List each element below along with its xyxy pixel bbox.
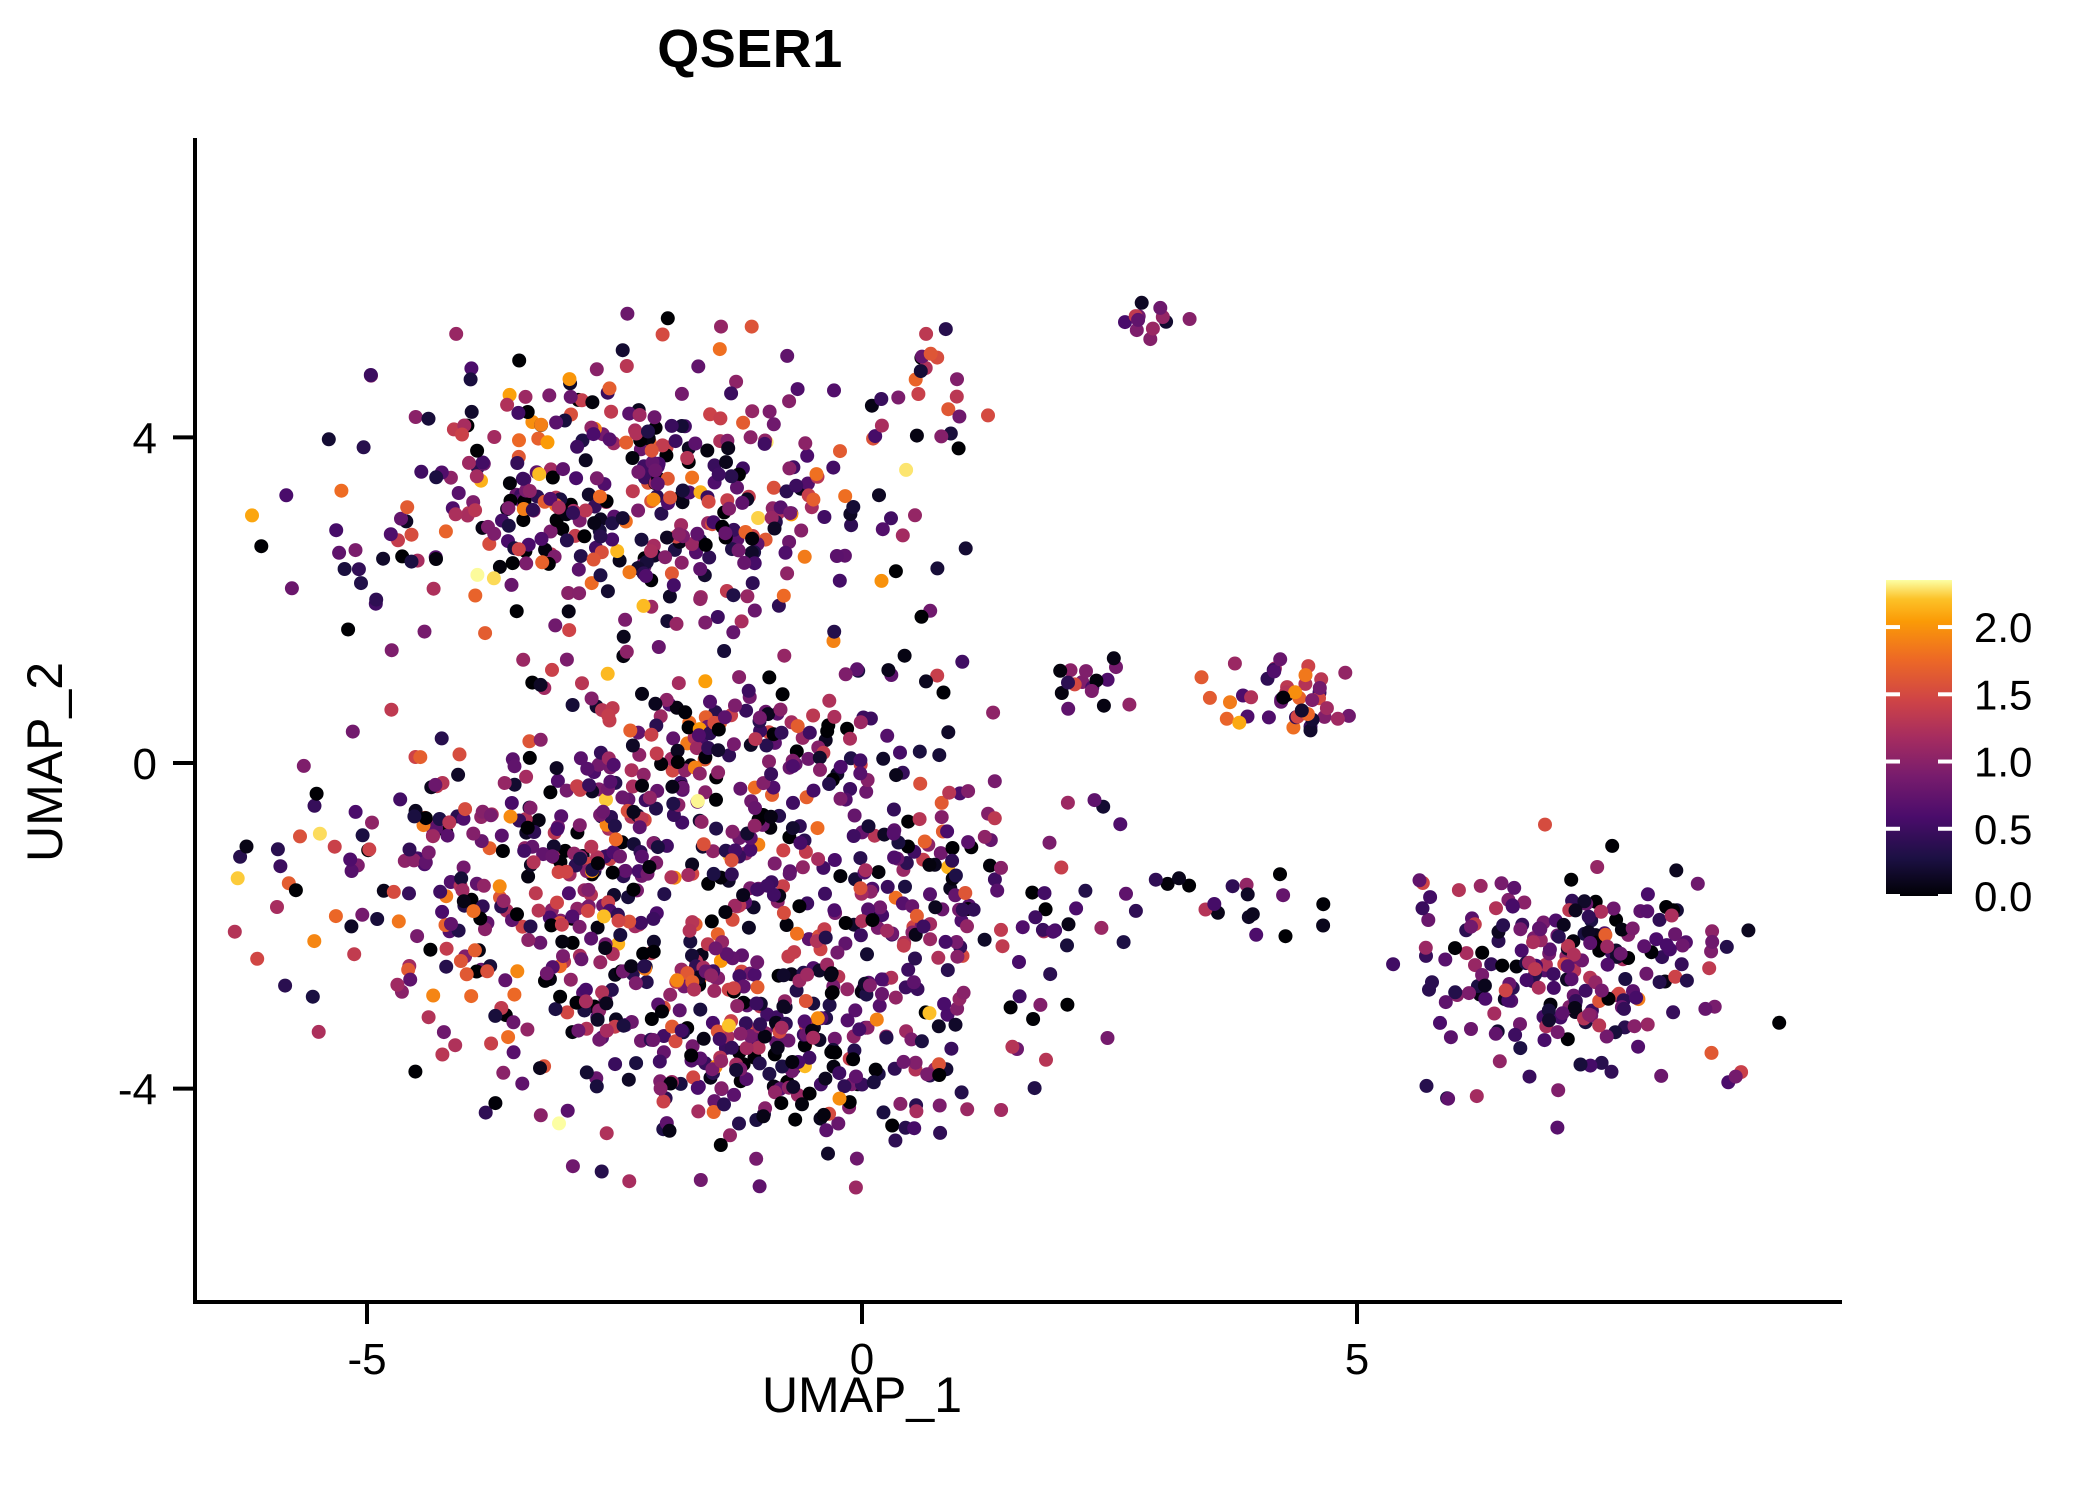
scatter-point xyxy=(718,710,732,724)
scatter-point xyxy=(726,588,740,602)
scatter-point xyxy=(709,793,723,807)
scatter-point xyxy=(734,1027,748,1041)
scatter-point xyxy=(1244,690,1258,704)
scatter-point xyxy=(639,569,653,583)
scatter-point xyxy=(650,747,664,761)
scatter-point xyxy=(1669,863,1683,877)
scatter-point xyxy=(918,835,932,849)
scatter-point xyxy=(562,886,576,900)
scatter-point xyxy=(942,786,956,800)
scatter-point xyxy=(1016,920,1030,934)
scatter-point xyxy=(889,564,903,578)
scatter-point xyxy=(599,996,613,1010)
scatter-point xyxy=(670,617,684,631)
scatter-point xyxy=(506,1015,520,1029)
scatter-point xyxy=(932,1019,946,1033)
scatter-point xyxy=(733,782,747,796)
scatter-point xyxy=(713,1032,727,1046)
scatter-point xyxy=(1675,957,1689,971)
scatter-point xyxy=(1172,871,1186,885)
scatter-point xyxy=(519,556,533,570)
scatter-point xyxy=(534,733,548,747)
scatter-point xyxy=(713,411,727,425)
scatter-point xyxy=(1316,919,1330,933)
scatter-point xyxy=(791,719,805,733)
scatter-point xyxy=(384,527,398,541)
scatter-point xyxy=(405,528,419,542)
scatter-point xyxy=(293,829,307,843)
scatter-point xyxy=(1617,1002,1631,1016)
scatter-point xyxy=(1547,967,1561,981)
scatter-point xyxy=(914,364,928,378)
scatter-point xyxy=(591,856,605,870)
scatter-point xyxy=(579,994,593,1008)
scatter-point xyxy=(467,904,481,918)
scatter-point xyxy=(665,566,679,580)
scatter-point xyxy=(703,695,717,709)
scatter-point xyxy=(477,879,491,893)
scatter-point xyxy=(511,406,525,420)
scatter-point xyxy=(332,546,346,560)
scatter-point xyxy=(470,568,484,582)
scatter-point xyxy=(1551,1083,1565,1097)
scatter-point xyxy=(273,859,287,873)
scatter-point xyxy=(876,752,890,766)
scatter-point xyxy=(913,777,927,791)
scatter-point xyxy=(560,653,574,667)
scatter-point xyxy=(505,578,519,592)
scatter-point xyxy=(695,815,709,829)
scatter-point xyxy=(745,532,759,546)
scatter-point xyxy=(512,433,526,447)
scatter-point xyxy=(774,1096,788,1110)
scatter-point xyxy=(1641,887,1655,901)
scatter-point xyxy=(1698,1002,1712,1016)
scatter-point xyxy=(946,841,960,855)
scatter-point xyxy=(767,417,781,431)
scatter-point xyxy=(859,863,873,877)
scatter-point xyxy=(1146,322,1160,336)
scatter-point xyxy=(444,917,458,931)
scatter-point xyxy=(308,799,322,813)
scatter-point xyxy=(626,739,640,753)
scatter-point xyxy=(1135,296,1149,310)
scatter-point xyxy=(329,523,343,537)
scatter-point xyxy=(675,1024,689,1038)
scatter-point xyxy=(748,801,762,815)
scatter-point xyxy=(1582,1008,1596,1022)
scatter-point xyxy=(826,461,840,475)
scatter-point xyxy=(1012,955,1026,969)
scatter-point xyxy=(1595,984,1609,998)
scatter-point xyxy=(909,1056,923,1070)
scatter-point xyxy=(541,435,555,449)
scatter-point xyxy=(663,1124,677,1138)
scatter-point xyxy=(952,441,966,455)
scatter-point xyxy=(634,916,648,930)
scatter-point xyxy=(626,484,640,498)
scatter-point xyxy=(762,755,776,769)
scatter-point xyxy=(577,529,591,543)
scatter-point xyxy=(1705,935,1719,949)
scatter-point xyxy=(928,900,942,914)
scatter-point xyxy=(780,566,794,580)
scatter-point xyxy=(833,869,847,883)
scatter-point xyxy=(1101,1031,1115,1045)
scatter-point xyxy=(1582,910,1596,924)
x-tick-label: 5 xyxy=(1345,1335,1369,1384)
scatter-point xyxy=(384,703,398,717)
scatter-point xyxy=(1583,936,1597,950)
scatter-point xyxy=(1660,938,1674,952)
scatter-point xyxy=(1551,1025,1565,1039)
scatter-point xyxy=(811,1011,825,1025)
scatter-point xyxy=(1653,913,1667,927)
scatter-point xyxy=(506,556,520,570)
scatter-point xyxy=(1203,691,1217,705)
scatter-point xyxy=(826,985,840,999)
scatter-point xyxy=(750,955,764,969)
scatter-point xyxy=(516,653,530,667)
scatter-point xyxy=(877,1105,891,1119)
scatter-point xyxy=(898,880,912,894)
scatter-point xyxy=(697,1032,711,1046)
scatter-point xyxy=(1564,873,1578,887)
scatter-point xyxy=(1523,1070,1537,1084)
scatter-point xyxy=(254,539,268,553)
scatter-point xyxy=(806,1031,820,1045)
scatter-point xyxy=(1495,959,1509,973)
scatter-point xyxy=(673,1003,687,1017)
scatter-point xyxy=(714,320,728,334)
scatter-point xyxy=(675,556,689,570)
scatter-point xyxy=(645,444,659,458)
scatter-point xyxy=(334,484,348,498)
scatter-point xyxy=(1033,998,1047,1012)
colorbar-tick-label: 1.0 xyxy=(1974,739,2032,786)
scatter-point xyxy=(468,589,482,603)
scatter-point xyxy=(960,919,974,933)
scatter-point xyxy=(464,372,478,386)
scatter-point xyxy=(749,1152,763,1166)
scatter-point xyxy=(591,1013,605,1027)
scatter-point xyxy=(709,822,723,836)
scatter-point xyxy=(1464,1022,1478,1036)
y-tick-label: 0 xyxy=(133,740,157,789)
scatter-point xyxy=(569,471,583,485)
scatter-point xyxy=(1592,1018,1606,1032)
scatter-point xyxy=(751,511,765,525)
scatter-point xyxy=(521,821,535,835)
scatter-point xyxy=(1060,938,1074,952)
scatter-point xyxy=(470,444,484,458)
scatter-point xyxy=(631,504,645,518)
scatter-point xyxy=(487,430,501,444)
scatter-point xyxy=(356,828,370,842)
scatter-point xyxy=(827,383,841,397)
scatter-point xyxy=(880,924,894,938)
scatter-point xyxy=(875,574,889,588)
scatter-point xyxy=(994,1103,1008,1117)
scatter-point xyxy=(1119,887,1133,901)
scatter-point xyxy=(484,1037,498,1051)
scatter-point xyxy=(1631,1040,1645,1054)
scatter-point xyxy=(279,488,293,502)
scatter-point xyxy=(692,728,706,742)
scatter-point xyxy=(487,527,501,541)
scatter-point xyxy=(822,694,836,708)
scatter-point xyxy=(505,796,519,810)
scatter-point xyxy=(1028,1081,1042,1095)
scatter-point xyxy=(633,820,647,834)
scatter-point xyxy=(782,461,796,475)
scatter-point xyxy=(730,999,744,1013)
scatter-point xyxy=(616,511,630,525)
scatter-point xyxy=(917,920,931,934)
scatter-point xyxy=(454,954,468,968)
scatter-point xyxy=(603,432,617,446)
scatter-point xyxy=(616,343,630,357)
scatter-point xyxy=(1702,961,1716,975)
scatter-point xyxy=(550,822,564,836)
scatter-point xyxy=(1729,1070,1743,1084)
scatter-point xyxy=(285,581,299,595)
scatter-point xyxy=(960,1102,974,1116)
scatter-point xyxy=(1316,897,1330,911)
scatter-point xyxy=(347,947,361,961)
scatter-point xyxy=(449,327,463,341)
scatter-point xyxy=(887,803,901,817)
scatter-point xyxy=(647,493,661,507)
scatter-point xyxy=(1060,998,1074,1012)
scatter-point xyxy=(240,840,254,854)
scatter-point xyxy=(735,496,749,510)
scatter-point xyxy=(1425,975,1439,989)
scatter-point xyxy=(1464,920,1478,934)
scatter-point xyxy=(570,779,584,793)
scatter-point xyxy=(357,440,371,454)
scatter-point xyxy=(451,768,465,782)
scatter-point xyxy=(1614,947,1628,961)
y-axis-ticks: -404 xyxy=(118,414,195,1114)
scatter-point xyxy=(613,850,627,864)
scatter-point xyxy=(414,465,428,479)
scatter-point xyxy=(678,705,692,719)
scatter-point xyxy=(1653,975,1667,989)
scatter-point xyxy=(672,527,686,541)
scatter-point xyxy=(1629,991,1643,1005)
scatter-point xyxy=(1043,836,1057,850)
scatter-point xyxy=(830,946,844,960)
scatter-point xyxy=(1605,839,1619,853)
scatter-point xyxy=(748,604,762,618)
scatter-point xyxy=(908,508,922,522)
scatter-point xyxy=(848,809,862,823)
scatter-point xyxy=(1433,1016,1447,1030)
scatter-point xyxy=(820,724,834,738)
scatter-point xyxy=(1568,1001,1582,1015)
scatter-point xyxy=(827,710,841,724)
scatter-point xyxy=(1489,901,1503,915)
scatter-point xyxy=(429,470,443,484)
scatter-point xyxy=(891,391,905,405)
scatter-point xyxy=(1654,1069,1668,1083)
scatter-point xyxy=(803,1087,817,1101)
scatter-point xyxy=(560,533,574,547)
scatter-point xyxy=(365,816,379,830)
scatter-point xyxy=(748,819,762,833)
scatter-point xyxy=(661,311,675,325)
scatter-point xyxy=(675,387,689,401)
scatter-point xyxy=(986,706,1000,720)
scatter-point xyxy=(1626,922,1640,936)
scatter-point xyxy=(840,982,854,996)
scatter-point xyxy=(604,405,618,419)
scatter-point xyxy=(549,416,563,430)
scatter-point xyxy=(853,766,867,780)
scatter-point xyxy=(870,1013,884,1027)
scatter-point xyxy=(349,805,363,819)
scatter-point xyxy=(595,1165,609,1179)
scatter-point xyxy=(798,550,812,564)
scatter-point xyxy=(794,524,808,538)
scatter-point xyxy=(1441,1092,1455,1106)
scatter-point xyxy=(442,815,456,829)
scatter-point xyxy=(587,553,601,567)
scatter-point xyxy=(939,322,953,336)
scatter-point xyxy=(400,500,414,514)
scatter-point xyxy=(994,861,1008,875)
scatter-point xyxy=(875,987,889,1001)
scatter-point xyxy=(1520,973,1534,987)
scatter-point xyxy=(594,530,608,544)
scatter-point xyxy=(556,462,570,476)
scatter-point xyxy=(1598,928,1612,942)
scatter-point xyxy=(783,867,797,881)
scatter-point xyxy=(950,950,964,964)
scatter-point xyxy=(608,1057,622,1071)
scatter-point xyxy=(863,978,877,992)
scatter-point xyxy=(508,759,522,773)
scatter-point xyxy=(657,1095,671,1109)
scatter-point xyxy=(545,663,559,677)
scatter-point xyxy=(488,1009,502,1023)
scatter-point xyxy=(869,1063,883,1077)
scatter-point xyxy=(500,398,514,412)
scatter-point xyxy=(785,1055,799,1069)
scatter-point xyxy=(1550,1121,1564,1135)
scatter-point xyxy=(278,979,292,993)
scatter-point xyxy=(593,955,607,969)
scatter-point xyxy=(887,827,901,841)
scatter-point xyxy=(1420,1079,1434,1093)
scatter-point xyxy=(344,919,358,933)
scatter-point xyxy=(872,488,886,502)
scatter-point xyxy=(1262,710,1276,724)
scatter-point xyxy=(941,725,955,739)
scatter-point xyxy=(978,830,992,844)
scatter-point xyxy=(915,610,929,624)
scatter-point xyxy=(622,1073,636,1087)
scatter-point xyxy=(1741,923,1755,937)
umap-scatter-plot: -505 -404 UMAP_1 UMAP_2 0.00.51.01.52.0 xyxy=(0,0,2100,1500)
scatter-point xyxy=(529,886,543,900)
scatter-point xyxy=(561,1104,575,1118)
scatter-point xyxy=(697,837,711,851)
scatter-point xyxy=(1594,905,1608,919)
scatter-point xyxy=(1561,959,1575,973)
scatter-point xyxy=(1493,1054,1507,1068)
scatter-point xyxy=(590,362,604,376)
y-tick-label: -4 xyxy=(118,1066,157,1115)
scatter-point xyxy=(343,853,357,867)
scatter-point xyxy=(1207,897,1221,911)
scatter-point xyxy=(737,556,751,570)
scatter-point xyxy=(791,382,805,396)
scatter-point xyxy=(1419,941,1433,955)
scatter-point xyxy=(422,412,436,426)
scatter-point xyxy=(523,484,537,498)
scatter-point xyxy=(637,959,651,973)
scatter-point xyxy=(1474,879,1488,893)
scatter-point xyxy=(699,538,713,552)
scatter-point xyxy=(711,743,725,757)
scatter-point xyxy=(867,1075,881,1089)
scatter-point xyxy=(880,729,894,743)
scatter-point xyxy=(408,1065,422,1079)
scatter-point xyxy=(651,840,665,854)
scatter-point xyxy=(887,851,901,865)
scatter-point xyxy=(512,542,526,556)
scatter-point xyxy=(501,1030,515,1044)
scatter-point xyxy=(549,1002,563,1016)
scatter-point xyxy=(1499,983,1513,997)
scatter-point xyxy=(768,857,782,871)
scatter-point xyxy=(1487,1007,1501,1021)
scatter-point xyxy=(516,472,530,486)
scatter-point xyxy=(590,1079,604,1093)
chart-root: QSER1 -505 -404 UMAP_1 UMAP_2 0.00.51.01… xyxy=(0,0,2100,1500)
scatter-point xyxy=(1313,681,1327,695)
scatter-point xyxy=(439,524,453,538)
scatter-point xyxy=(1565,972,1579,986)
scatter-point xyxy=(768,522,782,536)
scatter-point xyxy=(702,551,716,565)
scatter-point xyxy=(1515,944,1529,958)
scatter-point xyxy=(566,1159,580,1173)
scatter-point xyxy=(601,584,615,598)
scatter-point xyxy=(364,368,378,382)
scatter-point xyxy=(736,888,750,902)
scatter-point xyxy=(1552,930,1566,944)
scatter-point xyxy=(405,555,419,569)
scatter-point xyxy=(961,784,975,798)
scatter-point xyxy=(1232,716,1246,730)
scatter-point xyxy=(620,645,634,659)
scatter-point xyxy=(573,920,587,934)
scatter-point xyxy=(663,491,677,505)
colorbar-legend[interactable]: 0.00.51.01.52.0 xyxy=(1886,580,2032,920)
scatter-point xyxy=(793,836,807,850)
scatter-point xyxy=(896,528,910,542)
scatter-point xyxy=(620,359,634,373)
scatter-point xyxy=(691,1104,705,1118)
scatter-point xyxy=(271,842,285,856)
scatter-point xyxy=(646,912,660,926)
scatter-point xyxy=(504,810,518,824)
scatter-point xyxy=(652,640,666,654)
scatter-point xyxy=(955,655,969,669)
